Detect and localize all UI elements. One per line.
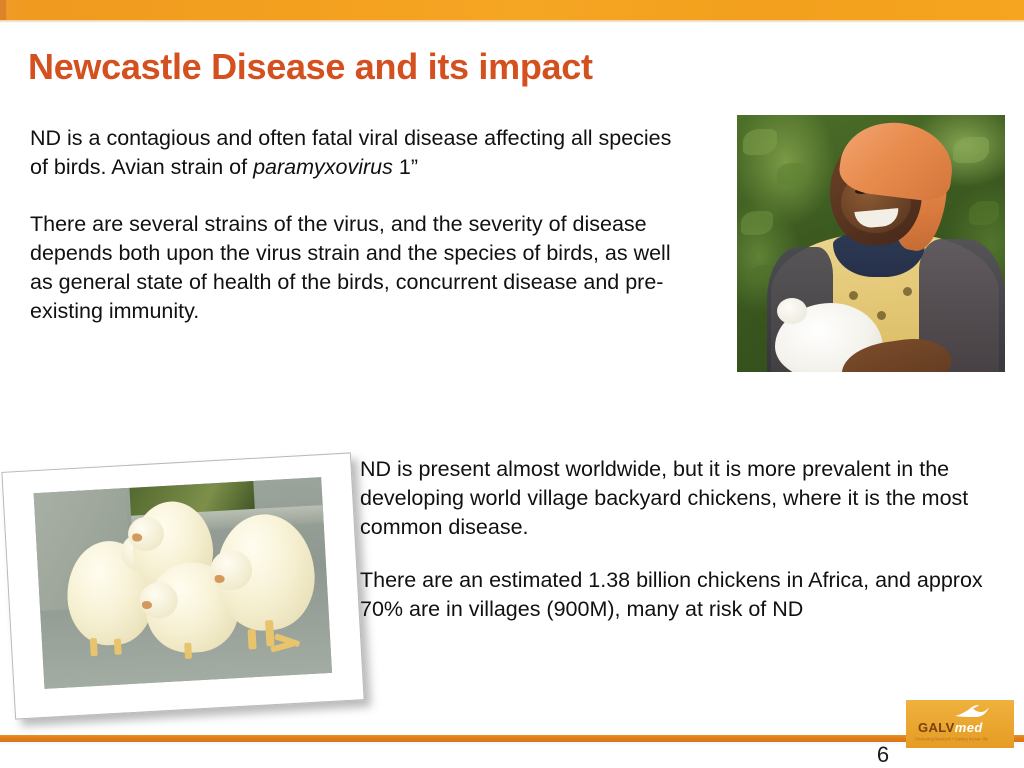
woman-holding-chicken-photo: [737, 115, 1005, 372]
paragraph-1: ND is a contagious and often fatal viral…: [30, 124, 690, 182]
galvmed-tagline: Protecting livestock • Saving human life: [915, 736, 1009, 743]
white-chicken-head: [777, 298, 807, 324]
foliage-leaf: [777, 163, 805, 185]
lower-right-text-column: ND is present almost worldwide, but it i…: [360, 455, 1020, 624]
chick-leg: [265, 620, 274, 646]
left-text-column: ND is a contagious and often fatal viral…: [30, 124, 690, 326]
foliage-leaf: [969, 201, 999, 225]
chick-leg: [248, 629, 257, 649]
chicks-photo-frame-container: [1, 452, 364, 719]
top-accent-bar-shadow: [0, 20, 1024, 23]
dress-dot: [903, 287, 912, 296]
galvmed-word-main: GALV: [918, 720, 955, 735]
chick-leg: [184, 643, 192, 659]
foliage-leaf: [741, 211, 773, 235]
page-title: Newcastle Disease and its impact: [28, 46, 788, 88]
bottom-accent-rule: [0, 735, 1024, 742]
bird-icon: [954, 704, 990, 720]
paragraph-1-italic-term: paramyxovirus: [253, 155, 393, 179]
top-accent-bar: [0, 0, 1024, 20]
chick-leg: [90, 638, 98, 656]
top-accent-bar-left-edge: [0, 0, 6, 20]
slide: Newcastle Disease and its impact ND is a…: [0, 0, 1024, 768]
galvmed-wordmark: GALVmed: [918, 720, 983, 735]
paragraph-3: ND is present almost worldwide, but it i…: [360, 455, 1020, 542]
paragraph-2: There are several strains of the virus, …: [30, 210, 690, 326]
galvmed-logo: GALVmed Protecting livestock • Saving hu…: [906, 700, 1014, 748]
foliage-leaf: [743, 129, 777, 155]
galvmed-word-suffix: med: [955, 720, 983, 735]
foliage-leaf: [953, 137, 989, 163]
paragraph-4: There are an estimated 1.38 billion chic…: [360, 566, 1020, 624]
chicks-photo: [34, 477, 332, 689]
paragraph-1-part-2: 1”: [393, 155, 418, 179]
chick-leg: [114, 639, 122, 655]
dress-dot: [877, 311, 886, 320]
page-number: 6: [868, 742, 898, 768]
dress-dot: [849, 291, 858, 300]
